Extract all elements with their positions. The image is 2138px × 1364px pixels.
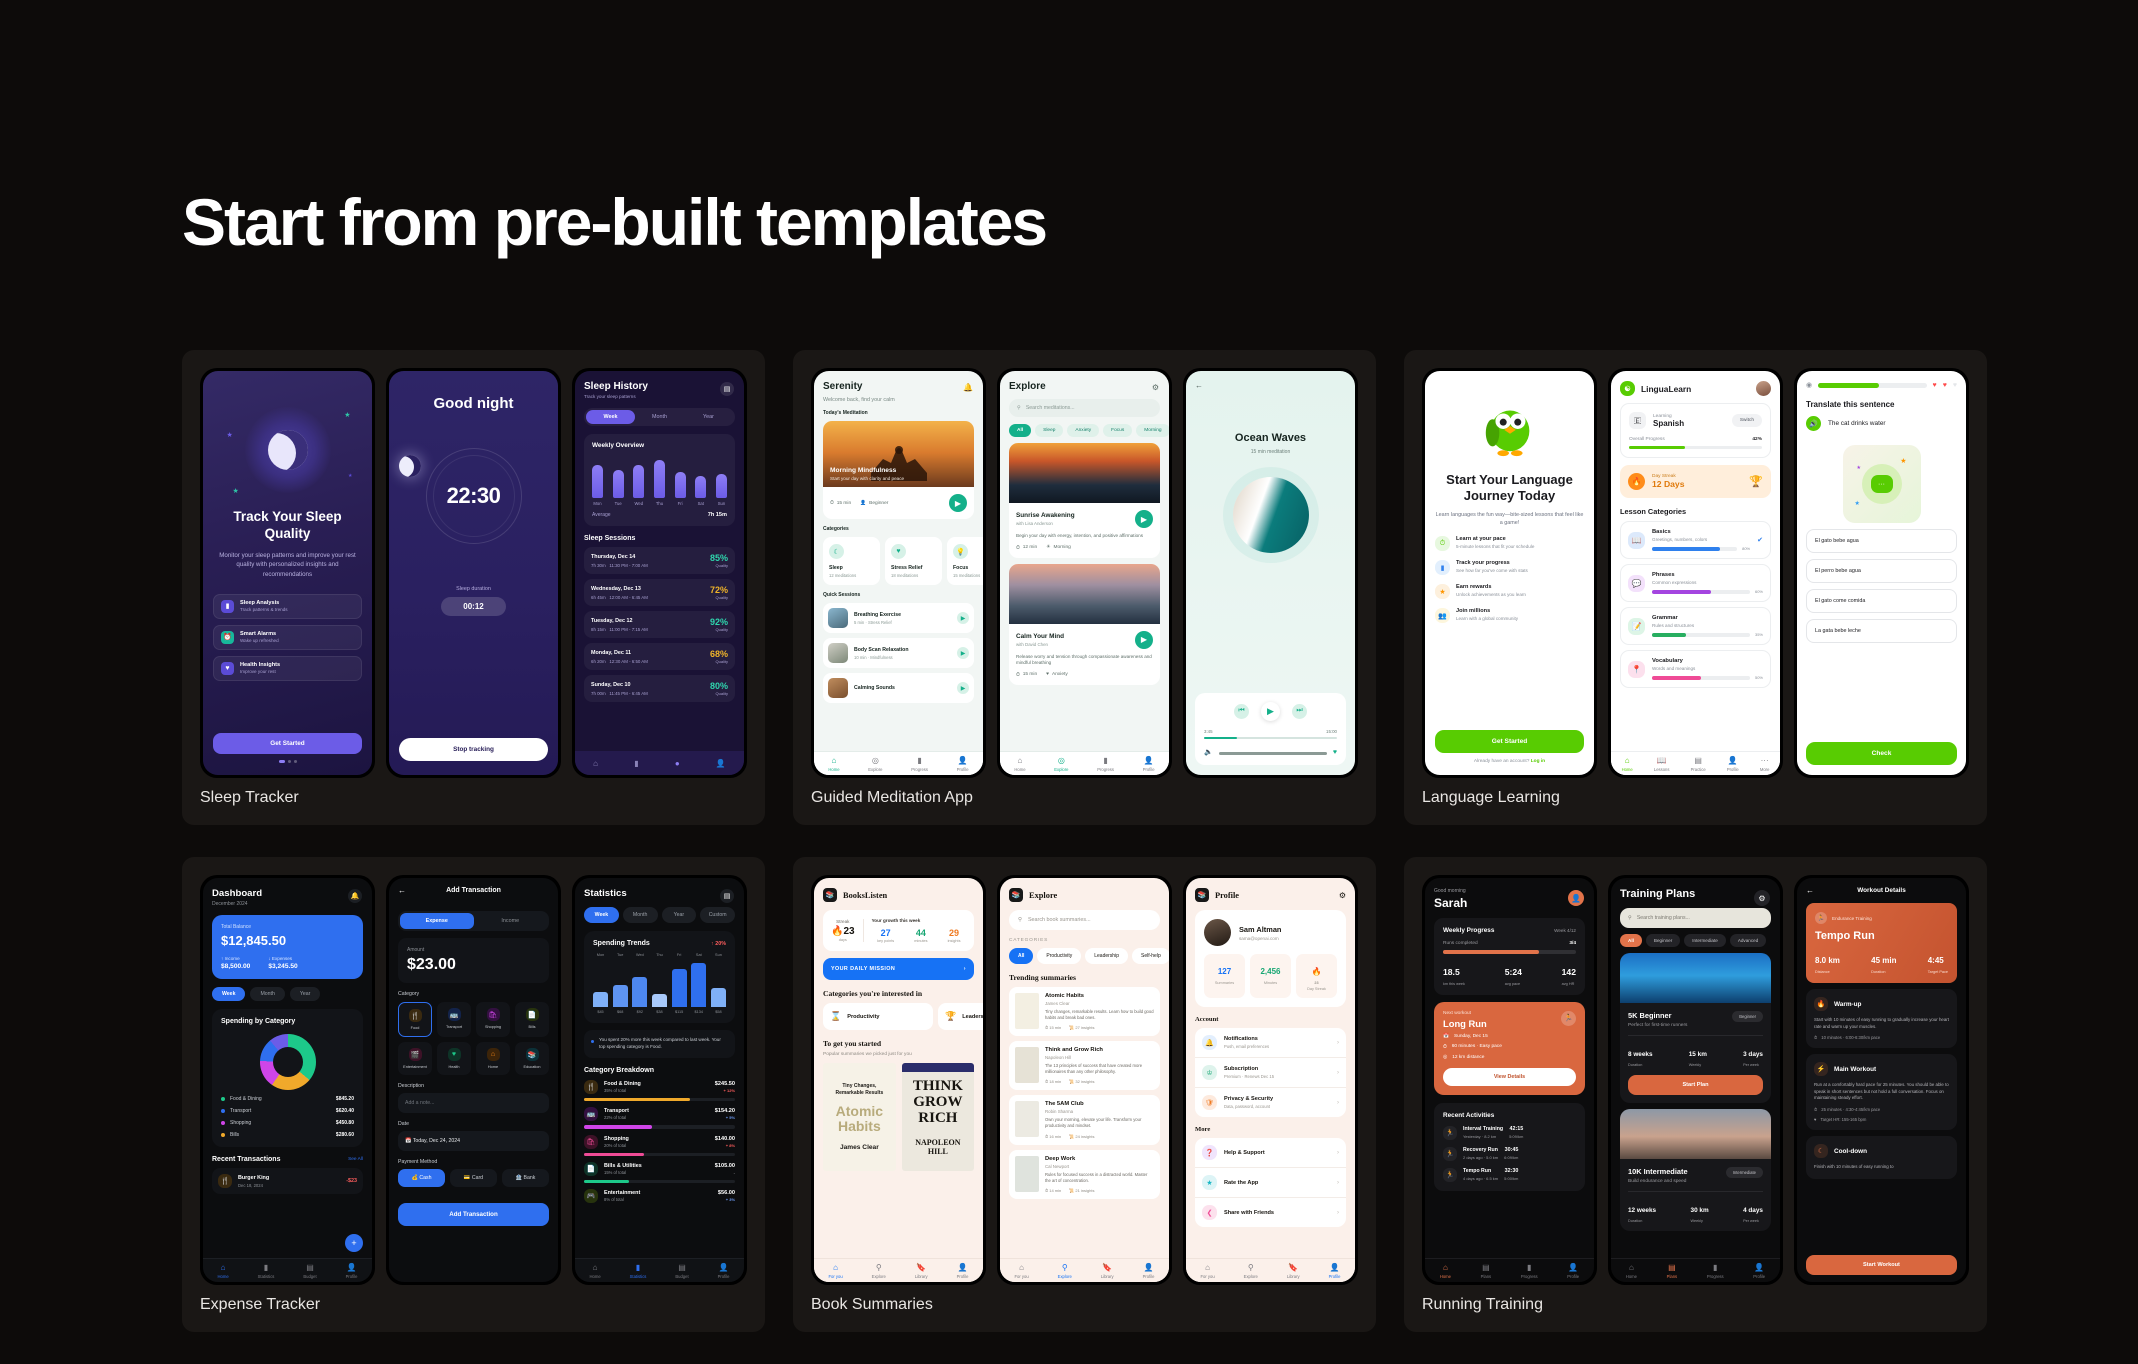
toggle-income[interactable]: Income — [474, 913, 548, 929]
see-all-link[interactable]: See All — [348, 1157, 363, 1162]
add-transaction-fab[interactable]: + — [345, 1234, 363, 1252]
tab-statistics[interactable]: ▮Statistics — [258, 1263, 275, 1279]
home-icon[interactable]: ⌂ — [593, 759, 598, 768]
phone-expense-add[interactable]: ← Add Transaction Expense Income Amount … — [386, 875, 561, 1285]
plan-image — [1620, 1109, 1771, 1159]
amount-field[interactable]: Amount $23.00 — [398, 938, 549, 983]
chip-self-help[interactable]: Self-help — [1132, 948, 1169, 964]
tab-explore[interactable]: ◎Explore — [868, 756, 882, 772]
chip-focus[interactable]: Focus — [1103, 424, 1132, 437]
tab-explore[interactable]: ⚲Explore — [1058, 1263, 1072, 1279]
card-image — [1009, 564, 1160, 624]
tab-library[interactable]: 🔖Library — [1287, 1263, 1300, 1279]
metric-duration: 45 minDuration — [1871, 950, 1896, 974]
section-cool-down: ☾ Cool-down Finish with 10 minutes of ea… — [1806, 1136, 1957, 1179]
book-cover-atomic-habits[interactable]: Tiny Changes, Remarkable Results Atomic … — [823, 1063, 896, 1171]
play-icon[interactable]: ▶ — [957, 682, 969, 694]
meditation-card[interactable]: Calm Your Mind with David Chen ▶ Release… — [1009, 564, 1160, 685]
toggle-expense[interactable]: Expense — [400, 913, 474, 929]
bottom-tabbar[interactable]: ⌂Home ◎Explore ▮Progress 👤Profile — [814, 751, 983, 775]
tab-progress[interactable]: ▮Progress — [911, 756, 928, 772]
trending-title: Trending summaries — [1009, 973, 1160, 982]
start-workout-button[interactable]: Start Workout — [1806, 1255, 1957, 1275]
chip-all[interactable]: All — [1009, 424, 1031, 437]
tab-month[interactable]: Month — [635, 410, 684, 424]
plan-card-5k-beginner[interactable]: Beginner 5K Beginner Perfect for first-t… — [1620, 953, 1771, 1103]
feature-title: Join millions — [1456, 608, 1518, 614]
stats-card: Streak 🔥23 days Your growth this week 27… — [823, 910, 974, 951]
category-transport[interactable]: 🚌Transport — [437, 1002, 471, 1037]
tab-for-you[interactable]: ⌂For you — [1014, 1263, 1028, 1279]
home-icon: ⌂ — [828, 756, 839, 765]
template-card-guided-meditation[interactable]: Serenity 🔔 Welcome back, find your calm … — [793, 350, 1376, 825]
book-title: Deep Work — [1045, 1156, 1154, 1162]
filter-chips[interactable]: All Beginner Intermediate Advanced — [1620, 934, 1771, 947]
close-icon[interactable]: ◉ — [1806, 381, 1812, 389]
tab-profile[interactable]: 👤Profile — [957, 756, 969, 772]
switch-language-button[interactable]: Switch — [1732, 414, 1762, 427]
tab-profile[interactable]: 👤Profile — [1143, 756, 1155, 772]
search-icon: ⚲ — [1628, 915, 1632, 921]
answer-option[interactable]: El gato bebe agua — [1806, 529, 1957, 553]
answer-option[interactable]: El perro bebe agua — [1806, 559, 1957, 583]
next-button[interactable]: ⏭ — [1292, 704, 1307, 719]
tab-budget[interactable]: ▤Budget — [303, 1263, 316, 1279]
category-desc: Greetings, numbers, colors — [1652, 537, 1750, 542]
category-leadership[interactable]: 🏆Leadership — [938, 1003, 983, 1030]
search-input[interactable]: ⚲ Search meditations... — [1009, 399, 1160, 417]
tab-profile[interactable]: 👤Profile — [1753, 1263, 1765, 1279]
breakdown-row[interactable]: 🚌 Transport 22% of total $154.20 + 5% — [584, 1107, 735, 1121]
tab-week[interactable]: Week — [584, 907, 619, 923]
phone-sleep-tracking[interactable]: Good night 22:30 Sleep duration 00:12 St… — [386, 368, 561, 778]
list-item[interactable]: Atomic Habits James Clear Tiny changes, … — [1009, 987, 1160, 1036]
value-label: $68 — [613, 1010, 628, 1014]
sleep-ring: 22:30 — [426, 448, 522, 544]
bottom-tabbar[interactable]: ⌂For you ⚲Explore 🔖Library 👤Profile — [1186, 1258, 1355, 1282]
daily-mission-banner[interactable]: YOUR DAILY MISSION › — [823, 958, 974, 980]
category-desc: Rules and structures — [1652, 623, 1763, 628]
category-home[interactable]: ⌂Home — [476, 1042, 510, 1075]
avatar[interactable]: 👤 — [1568, 890, 1584, 906]
list-item[interactable]: Body Scan Relaxation 10 min · Mindfulnes… — [823, 638, 974, 668]
date-input[interactable]: 📅 Today, Dec 24, 2024 — [398, 1131, 549, 1151]
tab-library[interactable]: 🔖Library — [915, 1263, 928, 1279]
feature-subtitle: See how far you've come with stats — [1456, 568, 1528, 573]
tab-home[interactable]: ⌂Home — [1622, 756, 1633, 772]
payment-card[interactable]: 💳 Card — [450, 1169, 497, 1187]
phone-expense-stats[interactable]: Statistics ▤ Week Month Year Custom Spen… — [572, 875, 747, 1285]
expense-dashboard-screen: Dashboard December 2024 🔔 Total Balance … — [203, 878, 372, 1282]
list-item[interactable]: Deep Work Cal Newport Rules for focused … — [1009, 1150, 1160, 1199]
value-label: $58 — [711, 1010, 726, 1014]
session-range: 12:30 AM - 6:50 AM — [609, 659, 648, 664]
tab-home[interactable]: ⌂Home — [1014, 756, 1025, 772]
row-privacy-security[interactable]: 🛡 Privacy & Security Data, password, acc… — [1195, 1088, 1346, 1117]
play-button[interactable]: ▶ — [1135, 631, 1153, 649]
list-item[interactable]: Breathing Exercise 5 min · Stress Relief… — [823, 603, 974, 633]
phone-language-onboarding[interactable]: Start Your Language Journey Today Learn … — [1422, 368, 1597, 778]
category-sleep[interactable]: ☾ Sleep 12 meditations — [823, 537, 880, 585]
template-card-book-summaries[interactable]: 📚 BooksListen Streak 🔥23 days Your growt… — [793, 857, 1376, 1332]
list-item[interactable]: Think and Grow Rich Napoleon Hill The 13… — [1009, 1041, 1160, 1090]
get-started-button[interactable]: Get Started — [213, 733, 362, 754]
chip-intermediate[interactable]: Intermediate — [1684, 934, 1726, 947]
tab-practice[interactable]: ▤Practice — [1691, 756, 1706, 772]
tab-library[interactable]: 🔖Library — [1101, 1263, 1114, 1279]
bottom-tabbar[interactable]: ⌂Home ▮Statistics ▤Budget 👤Profile — [575, 1258, 744, 1282]
bottom-tabbar[interactable]: ⌂ ▮ ● 👤 — [575, 751, 744, 775]
payment-methods[interactable]: 💰 Cash 💳 Card 🏦 Bank — [398, 1169, 549, 1187]
play-button[interactable]: ▶ — [1261, 702, 1280, 721]
tab-progress[interactable]: ▮Progress — [1521, 1263, 1538, 1279]
row-subscription[interactable]: ♔ Subscription Premium · Renews Dec 15 › — [1195, 1058, 1346, 1088]
tab-profile[interactable]: 👤Profile — [1727, 756, 1739, 772]
book-cover-think-and-grow-rich[interactable]: THINK GROW RICH NAPOLEONHILL — [902, 1063, 974, 1171]
phone-language-home[interactable]: ☯ LinguaLearn 🇪 Learning Spanish Switch — [1608, 368, 1783, 778]
next-date: 📅 Sunday, Dec 15 — [1443, 1034, 1576, 1039]
featured-meditation-card[interactable]: Morning Mindfulness Start your day with … — [823, 421, 974, 519]
bottom-tabbar[interactable]: ⌂Home ▮Statistics ▤Budget 👤Profile — [203, 1258, 372, 1282]
tab-home[interactable]: ⌂Home — [589, 1263, 600, 1279]
home-icon: ⌂ — [1014, 756, 1025, 765]
speaker-icon[interactable]: 🔊 — [1806, 416, 1821, 431]
tab-year[interactable]: Year — [290, 987, 320, 1001]
bottom-tabbar[interactable]: ⌂Home ▤Plans ▮Progress 👤Profile — [1425, 1258, 1594, 1282]
categories-label: CATEGORIES — [1009, 938, 1160, 943]
phone-sleep-history[interactable]: Sleep History Track your sleep patterns … — [572, 368, 747, 778]
quality-label: Quality — [710, 691, 728, 696]
chip-sleep[interactable]: Sleep — [1035, 424, 1063, 437]
description-input[interactable]: Add a note... — [398, 1093, 549, 1113]
chip-leadership[interactable]: Leadership — [1085, 948, 1128, 964]
transaction-row[interactable]: 🍴 Burger King Dec 18, 2024 -$23 — [212, 1168, 363, 1194]
search-input[interactable]: ⚲ Search book summaries... — [1009, 910, 1160, 930]
trend-delta: ↑ 20% — [711, 941, 726, 947]
table-row[interactable]: Sunday, Dec 10 7h 00m 11:45 PM - 6:45 AM… — [584, 675, 735, 702]
plan-image — [1620, 953, 1771, 1003]
panel-title: Weekly Overview — [592, 442, 727, 449]
category-food[interactable]: 🍴Food — [398, 1002, 432, 1037]
category-desc: Words and meanings — [1652, 666, 1763, 671]
feature-subtitle: Improve your rest — [240, 669, 280, 674]
tab-explore[interactable]: ◎Explore — [1054, 756, 1068, 772]
quality-value: 92% — [710, 617, 728, 627]
phone-books-explore[interactable]: 📚 Explore ⚲ Search book summaries... CAT… — [997, 875, 1172, 1285]
feature-health-insights[interactable]: ♥ Health Insights Improve your rest — [213, 656, 362, 681]
category-entertainment[interactable]: 🎬Entertainment — [398, 1042, 432, 1075]
chip-morning[interactable]: Morning — [1136, 424, 1169, 437]
view-details-button[interactable]: View Details — [1443, 1068, 1576, 1086]
tab-explore[interactable]: ⚲Explore — [872, 1263, 886, 1279]
clock-icon[interactable]: ● — [675, 759, 680, 768]
chip-anxiety[interactable]: Anxiety — [1067, 424, 1099, 437]
tab-profile[interactable]: 👤Profile — [1567, 1263, 1579, 1279]
moon-illustration: ★ ★ ★ ★ — [245, 407, 331, 493]
tab-budget[interactable]: ▤Budget — [675, 1263, 688, 1279]
template-caption: Guided Meditation App — [811, 789, 1358, 807]
play-button[interactable]: ▶ — [949, 494, 967, 512]
period-tabs[interactable]: Week Month Year Custom — [584, 907, 735, 923]
trends-bar-chart — [593, 963, 726, 1007]
chevron-right-icon: › — [1337, 1210, 1339, 1216]
account-row[interactable]: Already have an account? Log in — [1435, 759, 1584, 764]
stats-icon[interactable]: ▮ — [634, 759, 638, 768]
tab-profile[interactable]: 👤Profile — [346, 1263, 358, 1279]
tab-week[interactable]: Week — [212, 987, 245, 1001]
transaction-date: Dec 18, 2024 — [238, 1183, 269, 1188]
screen-title: Workout Details — [1857, 887, 1906, 894]
workout-details-screen: ← Workout Details 🏃Endurance Training Te… — [1797, 878, 1966, 1282]
legend-item: Shopping$450.80 — [221, 1120, 354, 1126]
tab-profile[interactable]: 👤Profile — [957, 1263, 969, 1279]
tab-home[interactable]: ⌂Home — [1440, 1263, 1451, 1279]
phone-expense-dashboard[interactable]: Dashboard December 2024 🔔 Total Balance … — [200, 875, 375, 1285]
check-button[interactable]: Check — [1806, 742, 1957, 765]
stop-tracking-button[interactable]: Stop tracking — [399, 738, 548, 761]
breakdown-row[interactable]: 📄 Bills & Utilities 15% of total $105.00… — [584, 1162, 735, 1176]
tab-for-you[interactable]: ⌂For you — [828, 1263, 842, 1279]
gear-icon[interactable]: ⚙ — [1152, 383, 1159, 392]
breakdown-row[interactable]: 🛍 Shopping 20% of total $140.00 + 8% — [584, 1135, 735, 1149]
screens: ★ ★ ★ ★ Track Your Sleep Quality Monitor… — [200, 368, 747, 778]
section-warm-up: 🔥 Warm-up Start with 10 minutes of easy … — [1806, 989, 1957, 1048]
period-tabs[interactable]: Week Month Year — [584, 408, 735, 426]
plan-card-10k-intermediate[interactable]: Intermediate 10K Intermediate Build endu… — [1620, 1109, 1771, 1231]
phone-language-quiz[interactable]: ◉ ♥ ♥ ♥ Translate this sentence 🔊 The ca… — [1794, 368, 1969, 778]
phone-running-home[interactable]: Good morning Sarah 👤 Weekly Progress Wee… — [1422, 875, 1597, 1285]
lesson-category-vocabulary[interactable]: 📍 Vocabulary Words and meanings 50% — [1620, 650, 1771, 688]
share-icon: ❮ — [1202, 1205, 1217, 1220]
meditation-card[interactable]: Sunrise Awakening with Lisa Anderson ▶ B… — [1009, 443, 1160, 558]
period-tabs[interactable]: Week Month Year — [212, 987, 363, 1001]
feature-title: Learn at your pace — [1456, 536, 1534, 542]
tab-custom[interactable]: Custom — [700, 907, 735, 923]
template-card-sleep-tracker[interactable]: ★ ★ ★ ★ Track Your Sleep Quality Monitor… — [182, 350, 765, 825]
breakdown-row[interactable]: 🎮 Entertainment 8% of total $56.00 + 3% — [584, 1189, 735, 1203]
workout-name: Tempo Run — [1815, 930, 1948, 942]
next-workout-card[interactable]: Next workout Long Run 🏃 📅 Sunday, Dec 15… — [1434, 1002, 1585, 1095]
phone-running-details[interactable]: ← Workout Details 🏃Endurance Training Te… — [1794, 875, 1969, 1285]
metric-distance: 8.0 kmDistance — [1815, 950, 1840, 974]
growth-stat: 29insights — [948, 928, 961, 943]
search-input[interactable]: ⚲ Search training plans... — [1620, 908, 1771, 928]
phone-sleep-onboarding[interactable]: ★ ★ ★ ★ Track Your Sleep Quality Monitor… — [200, 368, 375, 778]
phone-books-foryou[interactable]: 📚 BooksListen Streak 🔥23 days Your growt… — [811, 875, 986, 1285]
health-icon: ♥ — [448, 1048, 461, 1061]
profile-icon[interactable]: 👤 — [716, 759, 726, 768]
play-icon[interactable]: ▶ — [957, 647, 969, 659]
payment-bank[interactable]: 🏦 Bank — [502, 1169, 549, 1187]
plan-perweek: 4 daysPer week — [1743, 1199, 1763, 1223]
filter-chips[interactable]: All Sleep Anxiety Focus Morning — [1009, 424, 1160, 437]
food-icon: 🍴 — [218, 1174, 232, 1188]
bottom-tabbar[interactable]: ⌂For you ⚲Explore 🔖Library 👤Profile — [814, 1258, 983, 1282]
weekly-overview-panel: Weekly Overview Mon Tue Wed — [584, 434, 735, 526]
account-list: 🔔 Notifications Push, email preferences … — [1195, 1028, 1346, 1117]
progress-slider[interactable] — [1204, 737, 1337, 740]
category-stress-relief[interactable]: ♥ Stress Relief 18 meditations — [885, 537, 942, 585]
streak-value: 12 Days — [1652, 479, 1685, 489]
streak-block: Streak 🔥23 days — [831, 919, 864, 942]
lesson-category-phrases[interactable]: 💬 Phrases Common expressions 60% — [1620, 564, 1771, 602]
row-share-with-friends[interactable]: ❮ Share with Friends › — [1195, 1198, 1346, 1227]
tab-explore[interactable]: ⚲Explore — [1244, 1263, 1258, 1279]
filter-chips[interactable]: All Productivity Leadership Self-help — [1009, 948, 1160, 964]
bottom-tabbar[interactable]: ⌂Home ▤Plans ▮Progress 👤Profile — [1611, 1258, 1780, 1282]
tab-month[interactable]: Month — [623, 907, 658, 923]
phone-meditation-home[interactable]: Serenity 🔔 Welcome back, find your calm … — [811, 368, 986, 778]
favorite-icon[interactable]: ♥ — [1333, 749, 1337, 756]
login-link[interactable]: Log in — [1531, 759, 1545, 764]
calendar-icon[interactable]: ▤ — [720, 382, 734, 396]
calendar-icon[interactable]: ▤ — [720, 889, 734, 903]
answer-option[interactable]: El gato come comida — [1806, 589, 1957, 613]
tab-for-you[interactable]: ⌂For you — [1200, 1263, 1214, 1279]
tab-year[interactable]: Year — [662, 907, 697, 923]
back-icon[interactable]: ← — [1195, 381, 1346, 390]
gear-icon[interactable]: ⚙ — [1339, 891, 1346, 900]
tab-more[interactable]: ···More — [1760, 756, 1770, 772]
play-button[interactable]: ▶ — [1135, 510, 1153, 528]
activity-row[interactable]: 🏃 Interval Training Yesterday · 8.2 km 4… — [1443, 1126, 1576, 1140]
session-duration: 6h 45m — [591, 595, 606, 600]
activity-row[interactable]: 🏃 Tempo Run 4 days ago · 6.5 km 32:30 5:… — [1443, 1168, 1576, 1182]
row-help-support[interactable]: ❓ Help & Support › — [1195, 1138, 1346, 1168]
list-item[interactable]: Calming Sounds ▶ — [823, 673, 974, 703]
phone-meditation-player[interactable]: ← Ocean Waves 15 min meditation ⏮ ▶ ⏭ 3:… — [1183, 368, 1358, 778]
chip-all[interactable]: All — [1009, 948, 1033, 964]
tab-home[interactable]: ⌂Home — [828, 756, 839, 772]
insight-note: You spent 20% more this week compared to… — [584, 1030, 735, 1058]
tab-lessons[interactable]: 📖Lessons — [1654, 756, 1670, 772]
training-plans-screen: Training Plans ⚙ ⚲ Search training plans… — [1611, 878, 1780, 1282]
bottom-tabbar[interactable]: ⌂Home 📖Lessons ▤Practice 👤Profile ···Mor… — [1611, 751, 1780, 775]
avatar[interactable] — [1756, 381, 1771, 396]
back-icon[interactable]: ← — [398, 886, 406, 895]
category-education[interactable]: 📚Education — [515, 1042, 549, 1075]
answer-option[interactable]: La gata bebe leche — [1806, 619, 1957, 643]
tab-month[interactable]: Month — [250, 987, 284, 1001]
previous-button[interactable]: ⏮ — [1234, 704, 1249, 719]
tab-profile[interactable]: 👤Profile — [1143, 1263, 1155, 1279]
chip-advanced[interactable]: Advanced — [1730, 934, 1766, 947]
clock-icon: ⏱ — [1435, 536, 1450, 551]
phone-meditation-explore[interactable]: Explore ⚙ ⚲ Search meditations... All Sl… — [997, 368, 1172, 778]
table-row[interactable]: Thursday, Dec 14 7h 30m 11:30 PM - 7:00 … — [584, 547, 735, 574]
activity-row[interactable]: 🏃 Recovery Run 2 days ago · 5.0 km 30:45… — [1443, 1147, 1576, 1161]
tab-plans[interactable]: ▤Plans — [1481, 1263, 1491, 1279]
back-icon[interactable]: ← — [1806, 886, 1814, 895]
template-card-expense-tracker[interactable]: Dashboard December 2024 🔔 Total Balance … — [182, 857, 765, 1332]
lesson-category-grammar[interactable]: 📝 Grammar Rules and structures 35% — [1620, 607, 1771, 645]
add-transaction-button[interactable]: Add Transaction — [398, 1203, 549, 1226]
template-card-language-learning[interactable]: Start Your Language Journey Today Learn … — [1404, 350, 1987, 825]
language-home-screen: ☯ LinguaLearn 🇪 Learning Spanish Switch — [1611, 371, 1780, 775]
phone-running-plans[interactable]: Training Plans ⚙ ⚲ Search training plans… — [1608, 875, 1783, 1285]
tab-year[interactable]: Year — [684, 410, 733, 424]
x-label: Thu — [654, 501, 665, 506]
type-toggle[interactable]: Expense Income — [398, 911, 549, 931]
tab-home[interactable]: ⌂Home — [217, 1263, 228, 1279]
row-rate-the-app[interactable]: ★ Rate the App › — [1195, 1168, 1346, 1198]
gear-icon[interactable]: ⚙ — [1754, 890, 1770, 906]
plan-duration: 12 weeksDuration — [1628, 1199, 1656, 1223]
session-meta: 10 min · Mindfulness — [854, 655, 908, 660]
home-icon: ⌂ — [1014, 1263, 1028, 1272]
feature-smart-alarms[interactable]: ⏰ Smart Alarms Wake up refreshed — [213, 625, 362, 650]
feature-sleep-analysis[interactable]: ▮ Sleep Analysis Track patterns & trends — [213, 594, 362, 619]
list-item[interactable]: The 5AM Club Robin Sharma Own your morni… — [1009, 1095, 1160, 1144]
categories-title: Categories you're interested in — [823, 989, 974, 998]
bell-icon[interactable]: 🔔 — [348, 889, 362, 903]
table-row[interactable]: Wednesday, Dec 13 6h 45m 12:00 AM - 6:45… — [584, 579, 735, 606]
chip-all[interactable]: All — [1620, 934, 1642, 947]
chip-productivity[interactable]: Productivity — [1037, 948, 1081, 964]
tab-week[interactable]: Week — [586, 410, 635, 424]
next-label: Next workout — [1443, 1011, 1576, 1016]
book-icon: 📖 — [1654, 756, 1670, 765]
template-caption: Book Summaries — [811, 1296, 1358, 1314]
chip-beginner[interactable]: Beginner — [1646, 934, 1680, 947]
table-row[interactable]: Monday, Dec 11 6h 20m 12:30 AM - 6:50 AM… — [584, 643, 735, 670]
tab-profile[interactable]: 👤Profile — [718, 1263, 730, 1279]
books-profile-screen: 📚 Profile ⚙ Sam Altman sama@openai.com — [1186, 878, 1355, 1282]
category-productivity[interactable]: ⌛Productivity — [823, 1003, 933, 1030]
lesson-category-basics[interactable]: 📖 Basics Greetings, numbers, colors 80% … — [1620, 521, 1771, 559]
category-focus[interactable]: 💡 Focus 15 meditations — [947, 537, 983, 585]
people-icon: 👥 — [1435, 608, 1450, 623]
bottom-tabbar[interactable]: ⌂For you ⚲Explore 🔖Library 👤Profile — [1000, 1258, 1169, 1282]
shopping-icon: 🛍 — [487, 1008, 500, 1021]
category-grid[interactable]: 🍴Food 🚌Transport 🛍Shopping 📄Bills 🎬Enter… — [398, 1002, 549, 1075]
row-notifications[interactable]: 🔔 Notifications Push, email preferences … — [1195, 1028, 1346, 1058]
pagination-dots[interactable] — [213, 760, 362, 763]
tab-statistics[interactable]: ▮Statistics — [630, 1263, 647, 1279]
quick-sessions-label: Quick Sessions — [823, 592, 974, 598]
tab-progress[interactable]: ▮Progress — [1097, 756, 1114, 772]
tab-plans[interactable]: ▤Plans — [1667, 1263, 1677, 1279]
greeting: Good night — [434, 395, 514, 412]
template-card-running-training[interactable]: Good morning Sarah 👤 Weekly Progress Wee… — [1404, 857, 1987, 1332]
value-label: $115 — [672, 1010, 687, 1014]
avatar — [1204, 919, 1231, 946]
session-range: 11:00 PM - 7:15 AM — [609, 627, 647, 632]
category-health[interactable]: ♥Health — [437, 1042, 471, 1075]
payment-cash[interactable]: 💰 Cash — [398, 1169, 445, 1187]
table-row[interactable]: Tuesday, Dec 12 8h 15m 11:00 PM - 7:15 A… — [584, 611, 735, 638]
session-day: Wednesday, Dec 13 — [591, 586, 648, 592]
category-shopping[interactable]: 🛍Shopping — [476, 1002, 510, 1037]
phone-books-profile[interactable]: 📚 Profile ⚙ Sam Altman sama@openai.com — [1183, 875, 1358, 1285]
bottom-tabbar[interactable]: ⌂Home ◎Explore ▮Progress 👤Profile — [1000, 751, 1169, 775]
bell-icon[interactable]: 🔔 — [963, 383, 973, 392]
volume-icon[interactable]: 🔈 — [1204, 748, 1213, 756]
tab-progress[interactable]: ▮Progress — [1707, 1263, 1724, 1279]
tab-profile[interactable]: 👤Profile — [1329, 1263, 1341, 1279]
start-plan-button[interactable]: Start Plan — [1628, 1075, 1763, 1095]
compass-icon: ◎ — [868, 756, 882, 765]
heart-icon: ♥ — [221, 662, 234, 675]
play-icon[interactable]: ▶ — [957, 612, 969, 624]
breakdown-row[interactable]: 🍴 Food & Dining 35% of total $245.50 + 1… — [584, 1080, 735, 1094]
tab-home[interactable]: ⌂Home — [1626, 1263, 1637, 1279]
volume-slider[interactable] — [1219, 752, 1327, 755]
get-started-button[interactable]: Get Started — [1435, 730, 1584, 753]
chart-title: Spending by Category — [221, 1018, 354, 1025]
progress-bar — [1443, 950, 1576, 954]
category-bills[interactable]: 📄Bills — [515, 1002, 549, 1037]
